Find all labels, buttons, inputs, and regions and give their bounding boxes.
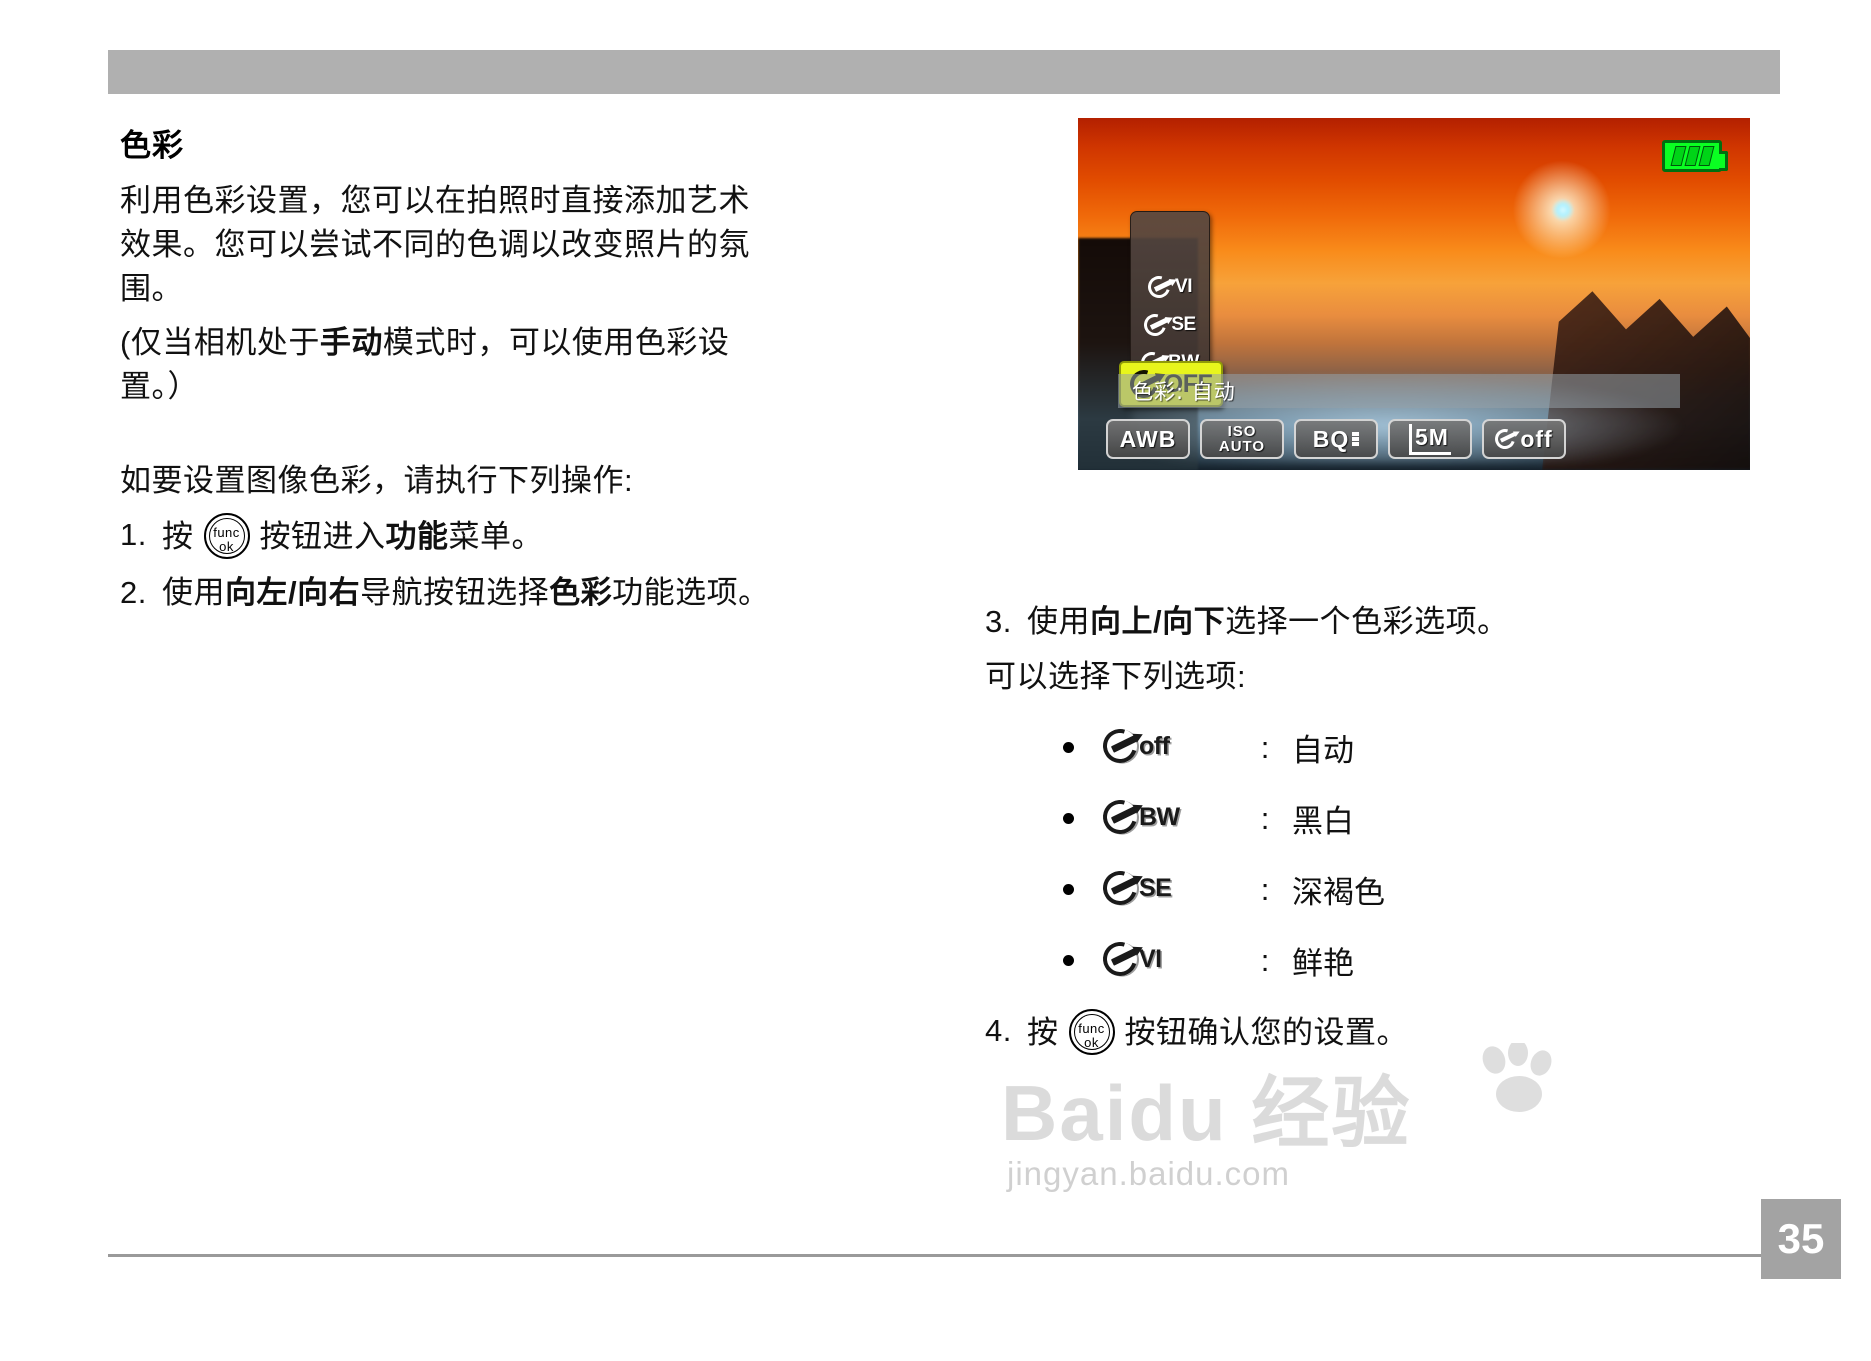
step-4-body: 按funcok按钮确认您的设置。	[1027, 1009, 1775, 1055]
right-text-column: 3. 使用向上/向下选择一个色彩选项。 可以选择下列选项: off : 自动	[985, 600, 1775, 1067]
color-vi-icon	[1148, 275, 1174, 300]
step-2-bold-color: 色彩	[549, 575, 612, 610]
list-item: BW : 黑白	[1063, 796, 1775, 841]
step-4-after: 按钮确认您的设置。	[1125, 1015, 1409, 1050]
bullet-dot-icon	[1063, 955, 1074, 966]
option-colon-0: :	[1238, 730, 1292, 766]
color-options-list: off : 自动 BW : 黑白	[1063, 725, 1775, 983]
paragraph-spacer	[120, 419, 780, 459]
footer-divider	[108, 1254, 1780, 1257]
step-1-before: 按	[162, 519, 194, 554]
options-lead: 可以选择下列选项:	[985, 655, 1775, 699]
note-bold: 手动	[320, 325, 383, 360]
step-1-body: 按funcok按钮进入功能菜单。	[162, 513, 780, 559]
white-balance-label: AWB	[1120, 426, 1177, 453]
menu-item-sepia-label: SE	[1171, 314, 1195, 336]
step-3-body: 使用向上/向下选择一个色彩选项。	[1027, 600, 1775, 643]
ok-label: ok	[1071, 1036, 1113, 1049]
camera-lcd-screenshot: VI SE BW OFF 色彩: 自动	[1078, 118, 1750, 470]
color-se-icon: SE	[1102, 870, 1212, 910]
step-2-bold-left-right: 向左/向右	[225, 575, 360, 610]
step-3-tail: 选择一个色彩选项。	[1225, 604, 1509, 639]
manual-mode-note: (仅当相机处于手动模式时，可以使用色彩设置。）	[120, 321, 780, 409]
step-2-tail: 功能选项。	[612, 575, 770, 610]
step-1-after-plain: 按钮进入	[260, 519, 386, 554]
sun-icon	[1552, 199, 1574, 221]
iso-chip[interactable]: ISO AUTO	[1200, 419, 1284, 459]
menu-item-vivid[interactable]: VI	[1131, 268, 1209, 306]
battery-full-icon	[1662, 140, 1722, 172]
step-3-number: 3.	[985, 600, 1027, 643]
step-3-bold-up-down: 向上/向下	[1090, 604, 1225, 639]
intro-paragraph: 利用色彩设置，您可以在拍照时直接添加艺术效果。您可以尝试不同的色调以改变照片的氛…	[120, 179, 780, 311]
menu-item-sepia[interactable]: SE	[1131, 306, 1209, 344]
instructions-lead: 如要设置图像色彩，请执行下列操作:	[120, 459, 780, 503]
iso-label-line1: ISO	[1228, 425, 1257, 439]
step-4-before: 按	[1027, 1015, 1059, 1050]
size-chip[interactable]: 5M	[1388, 419, 1472, 459]
ok-label: ok	[206, 540, 248, 553]
lcd-status-text: 色彩: 自动	[1132, 376, 1236, 406]
step-2-lead: 使用	[162, 575, 225, 610]
list-item: VI : 鲜艳	[1063, 938, 1775, 983]
step-2: 2. 使用向左/向右导航按钮选择色彩功能选项。	[120, 571, 780, 614]
step-4: 4. 按funcok按钮确认您的设置。	[985, 1009, 1775, 1055]
bullet-dot-icon	[1063, 742, 1074, 753]
page-number-badge: 35	[1761, 1199, 1841, 1279]
func-label: func	[1071, 1022, 1113, 1035]
option-label-bw: 黑白	[1292, 796, 1775, 841]
step-1: 1. 按funcok按钮进入功能菜单。	[120, 513, 780, 559]
step-2-number: 2.	[120, 571, 162, 614]
func-label: func	[206, 526, 248, 539]
step-1-after-bold: 功能	[386, 519, 449, 554]
option-label-sepia: 深褐色	[1292, 867, 1775, 912]
left-text-column: 色彩 利用色彩设置，您可以在拍照时直接添加艺术效果。您可以尝试不同的色调以改变照…	[120, 120, 780, 626]
manual-page: 色彩 利用色彩设置，您可以在拍照时直接添加艺术效果。您可以尝试不同的色调以改变照…	[0, 0, 1871, 1361]
bullet-dot-icon	[1063, 884, 1074, 895]
step-1-tail: 菜单。	[449, 519, 544, 554]
quality-dots-icon	[1352, 432, 1359, 446]
color-se-icon	[1144, 313, 1170, 338]
color-off-icon: off	[1102, 728, 1212, 768]
size-label: 5M	[1409, 424, 1451, 455]
func-ok-button-icon: funcok	[1069, 1009, 1115, 1055]
iso-label-line2: AUTO	[1219, 440, 1265, 454]
option-label-auto: 自动	[1292, 725, 1775, 770]
color-bw-icon: BW	[1102, 799, 1212, 839]
func-ok-button-icon: funcok	[204, 513, 250, 559]
baidu-watermark: Baidu 经验 jingyan.baidu.com	[1001, 1051, 1561, 1231]
option-colon-2: :	[1238, 872, 1292, 908]
color-chip-label: off	[1520, 426, 1552, 453]
watermark-main-text: Baidu 经验	[1001, 1051, 1411, 1163]
option-colon-3: :	[1238, 943, 1292, 979]
step-4-number: 4.	[985, 1009, 1027, 1052]
lcd-status-strip: 色彩: 自动	[1118, 374, 1680, 408]
list-item: off : 自动	[1063, 725, 1775, 770]
step-2-body: 使用向左/向右导航按钮选择色彩功能选项。	[162, 571, 780, 614]
list-item: SE : 深褐色	[1063, 867, 1775, 912]
step-2-mid: 导航按钮选择	[360, 575, 549, 610]
color-chip[interactable]: off	[1482, 419, 1566, 459]
step-1-number: 1.	[120, 513, 162, 556]
battery-segment	[1684, 146, 1700, 166]
watermark-sub-text: jingyan.baidu.com	[1007, 1155, 1290, 1193]
quality-label: BQ	[1313, 426, 1350, 453]
option-colon-1: :	[1238, 801, 1292, 837]
color-off-icon	[1495, 428, 1519, 451]
battery-segment	[1670, 146, 1686, 166]
battery-segment	[1698, 146, 1714, 166]
note-before: (仅当相机处于	[120, 325, 320, 360]
page-title: 色彩	[120, 120, 780, 165]
quality-chip[interactable]: BQ	[1294, 419, 1378, 459]
menu-item-vivid-label: VI	[1175, 276, 1192, 298]
white-balance-chip[interactable]: AWB	[1106, 419, 1190, 459]
page-header-bar	[108, 50, 1780, 94]
lcd-settings-bar: AWB ISO AUTO BQ 5M off	[1106, 416, 1726, 462]
step-3-lead: 使用	[1027, 604, 1090, 639]
step-3: 3. 使用向上/向下选择一个色彩选项。	[985, 600, 1775, 643]
option-label-vivid: 鲜艳	[1292, 938, 1775, 983]
bullet-dot-icon	[1063, 813, 1074, 824]
color-vi-icon: VI	[1102, 941, 1212, 981]
